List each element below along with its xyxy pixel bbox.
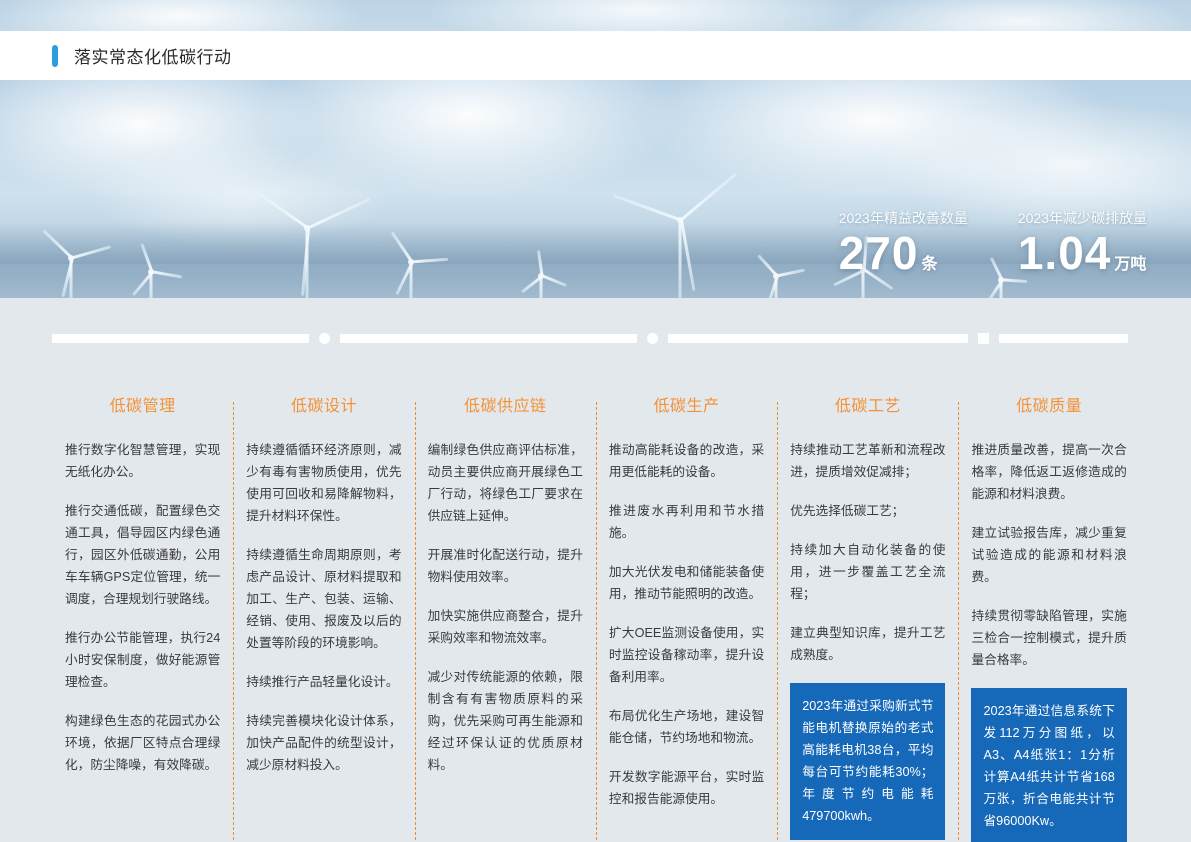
column-low-carbon-design: 低碳设计 持续遵循循环经济原则，减少有毒有害物质使用，优先使用可回收和易降解物料… <box>233 392 414 842</box>
page-title: 落实常态化低碳行动 <box>74 43 232 68</box>
column-title: 低碳设计 <box>246 392 401 416</box>
column-paragraph: 扩大OEE监测设备使用，实时监控设备稼动率，提升设备利用率。 <box>609 622 764 688</box>
column-low-carbon-production: 低碳生产 推动高能耗设备的改造，采用更低能耗的设备。 推进废水再利用和节水措施。… <box>596 392 777 842</box>
wind-turbine <box>1000 280 1002 298</box>
page-header: 落实常态化低碳行动 <box>0 31 1191 80</box>
stat-carbon-reduction: 2023年减少碳排放量 1.04 万吨 <box>1018 208 1147 276</box>
stat-number: 270 <box>839 230 919 276</box>
stat-unit: 条 <box>921 250 937 274</box>
column-paragraph: 加快实施供应商整合，提升采购效率和物流效率。 <box>428 605 583 649</box>
rail-segment <box>999 334 1128 343</box>
column-paragraph: 持续推动工艺革新和流程改进，提质增效促减排； <box>790 439 945 483</box>
rail-square-marker[interactable] <box>978 333 989 344</box>
turbine-blade <box>613 194 682 221</box>
section-divider-rail <box>52 331 1132 345</box>
column-title: 低碳供应链 <box>428 392 583 416</box>
column-highlight-callout: 2023年通过采购新式节能电机替换原始的老式高能耗电机38台，平均每台可节约能耗… <box>790 683 945 840</box>
column-paragraph: 推行办公节能管理，执行24小时安保制度，做好能源管理检查。 <box>65 627 220 693</box>
column-paragraph: 持续加大自动化装备的使用，进一步覆盖工艺全流程； <box>790 539 945 605</box>
rail-segment <box>52 334 309 343</box>
hero-stats: 2023年精益改善数量 270 条 2023年减少碳排放量 1.04 万吨 <box>839 208 1147 276</box>
rail-dot-marker[interactable] <box>647 333 658 344</box>
rail-dot-marker[interactable] <box>319 333 330 344</box>
column-low-carbon-process: 低碳工艺 持续推动工艺革新和流程改进，提质增效促减排； 优先选择低碳工艺； 持续… <box>777 392 958 842</box>
stat-label: 2023年精益改善数量 <box>839 208 968 228</box>
stat-lean-improvements: 2023年精益改善数量 270 条 <box>839 208 968 276</box>
wind-turbine <box>678 220 681 298</box>
page-root: 落实常态化低碳行动 <box>0 0 1191 842</box>
column-paragraph: 推进废水再利用和节水措施。 <box>609 500 764 544</box>
column-paragraph: 优先选择低碳工艺； <box>790 500 945 522</box>
column-paragraph: 持续遵循循环经济原则，减少有毒有害物质使用，优先使用可回收和易降解物料，提升材料… <box>246 439 401 527</box>
column-paragraph: 加大光伏发电和储能装备使用，推动节能照明的改造。 <box>609 561 764 605</box>
column-paragraph: 推行数字化智慧管理，实现无纸化办公。 <box>65 439 220 483</box>
column-title: 低碳管理 <box>65 392 220 416</box>
column-paragraph: 推行交通低碳，配置绿色交通工具，倡导园区内绿色通行，园区外低碳通勤，公用车车辆G… <box>65 500 220 610</box>
header-accent-bar <box>52 45 58 67</box>
column-paragraph: 减少对传统能源的依赖，限制含有有害物质原料的采购，优先采购可再生能源和经过环保认… <box>428 666 583 776</box>
column-paragraph: 持续贯彻零缺陷管理，实施三检合一控制模式，提升质量合格率。 <box>971 605 1126 671</box>
wind-turbine <box>540 276 542 298</box>
column-title: 低碳生产 <box>609 392 764 416</box>
low-carbon-columns: 低碳管理 推行数字化智慧管理，实现无纸化办公。 推行交通低碳，配置绿色交通工具，… <box>52 392 1140 842</box>
column-low-carbon-supply-chain: 低碳供应链 编制绿色供应商评估标准，动员主要供应商开展绿色工厂行动，将绿色工厂要… <box>415 392 596 842</box>
column-paragraph: 建立典型知识库，提升工艺成熟度。 <box>790 622 945 666</box>
column-paragraph: 开发数字能源平台，实时监控和报告能源使用。 <box>609 766 764 810</box>
column-title: 低碳质量 <box>971 392 1126 416</box>
column-paragraph: 开展准时化配送行动，提升物料使用效率。 <box>428 544 583 588</box>
column-paragraph: 推进质量改善，提高一次合格率，降低返工返修造成的能源和材料浪费。 <box>971 439 1126 505</box>
column-paragraph: 构建绿色生态的花园式办公环境，依据厂区特点合理绿化，防尘降噪，有效降碳。 <box>65 710 220 776</box>
column-paragraph: 布局优化生产场地，建设智能仓储，节约场地和物流。 <box>609 705 764 749</box>
rail-segment <box>340 334 637 343</box>
column-paragraph: 推动高能耗设备的改造，采用更低能耗的设备。 <box>609 439 764 483</box>
stat-value-row: 270 条 <box>839 230 968 276</box>
stat-number: 1.04 <box>1018 230 1112 276</box>
wind-turbine <box>150 272 152 298</box>
column-paragraph: 持续完善模块化设计体系，加快产品配件的统型设计，减少原材料投入。 <box>246 710 401 776</box>
turbine-blade <box>680 173 737 221</box>
wind-turbine <box>305 228 308 298</box>
column-low-carbon-management: 低碳管理 推行数字化智慧管理，实现无纸化办公。 推行交通低碳，配置绿色交通工具，… <box>52 392 233 842</box>
wind-turbine <box>775 276 777 298</box>
column-paragraph: 编制绿色供应商评估标准，动员主要供应商开展绿色工厂行动，将绿色工厂要求在供应链上… <box>428 439 583 527</box>
wind-turbine <box>410 262 412 298</box>
stat-unit: 万吨 <box>1114 250 1146 274</box>
column-highlight-callout: 2023年通过信息系统下发112万分图纸，以A3、A4纸张1：1分析计算A4纸共… <box>971 688 1126 842</box>
turbine-tower <box>678 220 681 298</box>
stat-label: 2023年减少碳排放量 <box>1018 208 1147 228</box>
column-paragraph: 持续推行产品轻量化设计。 <box>246 671 401 693</box>
hero-banner-windfarm: 2023年精益改善数量 270 条 2023年减少碳排放量 1.04 万吨 <box>0 80 1191 298</box>
column-paragraph: 建立试验报告库，减少重复试验造成的能源和材料浪费。 <box>971 522 1126 588</box>
wind-turbine <box>70 258 72 298</box>
rail-segment <box>668 334 968 343</box>
column-title: 低碳工艺 <box>790 392 945 416</box>
column-low-carbon-quality: 低碳质量 推进质量改善，提高一次合格率，降低返工返修造成的能源和材料浪费。 建立… <box>958 392 1139 842</box>
column-paragraph: 持续遵循生命周期原则，考虑产品设计、原材料提取和加工、生产、包装、运输、经销、使… <box>246 544 401 654</box>
stat-value-row: 1.04 万吨 <box>1018 230 1147 276</box>
